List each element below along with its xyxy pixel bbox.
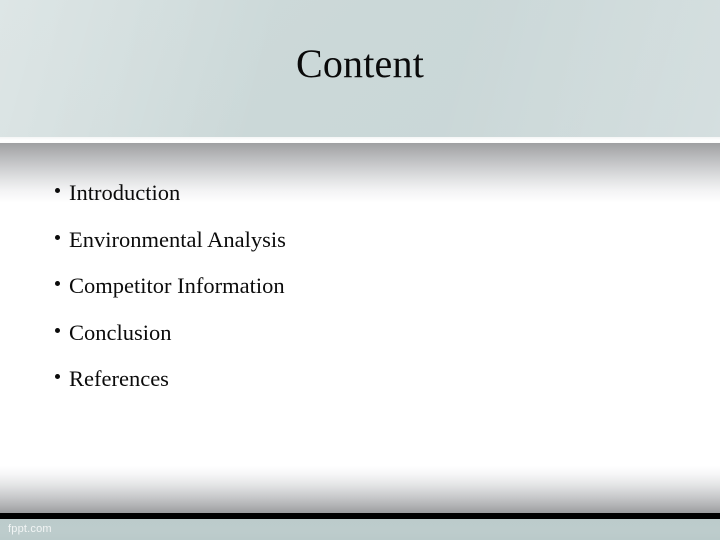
- slide-body: Introduction Environmental Analysis Comp…: [0, 160, 720, 460]
- bullet-dot-icon: [55, 235, 60, 240]
- list-item-label: Environmental Analysis: [69, 217, 286, 264]
- list-item-label: Conclusion: [69, 310, 172, 357]
- list-item[interactable]: Introduction: [50, 170, 690, 217]
- list-item[interactable]: Competitor Information: [50, 263, 690, 310]
- content-bullet-list: Introduction Environmental Analysis Comp…: [50, 170, 690, 403]
- bullet-dot-icon: [55, 374, 60, 379]
- bullet-dot-icon: [55, 281, 60, 286]
- presentation-slide: Content Introduction Environmental Analy…: [0, 0, 720, 540]
- slide-footer-band: fppt.com: [0, 519, 720, 540]
- list-item[interactable]: Conclusion: [50, 310, 690, 357]
- bullet-dot-icon: [55, 328, 60, 333]
- list-item[interactable]: Environmental Analysis: [50, 217, 690, 264]
- list-item[interactable]: References: [50, 356, 690, 403]
- bullet-dot-icon: [55, 188, 60, 193]
- list-item-label: Competitor Information: [69, 263, 285, 310]
- page-title: Content: [0, 40, 720, 88]
- footer-drop-shadow: [0, 466, 720, 513]
- watermark-label: fppt.com: [8, 522, 52, 536]
- list-item-label: References: [69, 356, 169, 403]
- list-item-label: Introduction: [69, 170, 180, 217]
